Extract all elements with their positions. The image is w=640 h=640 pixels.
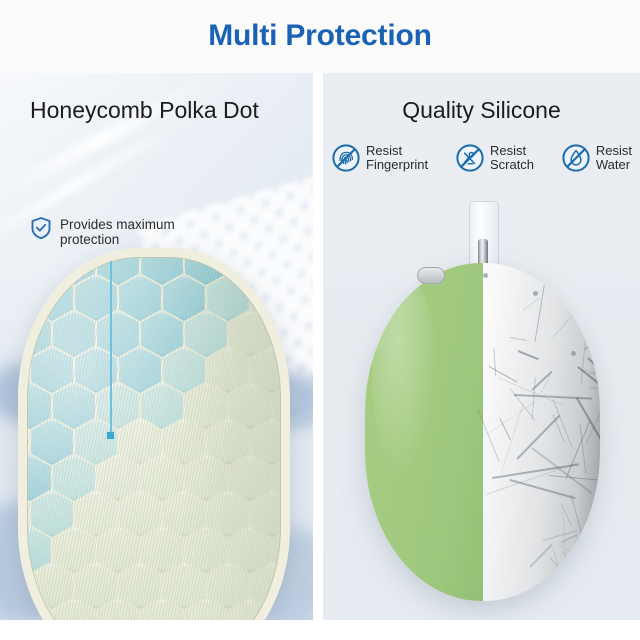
feature-resist-fingerprint: Resist Fingerprint: [331, 143, 428, 173]
callout-text: Provides maximum protection: [60, 216, 175, 247]
banner: Multi Protection: [0, 0, 640, 73]
callout-pointer-dot: [107, 432, 114, 439]
honeycomb-cell: [119, 419, 161, 465]
feature-resist-water: Resist Water: [561, 143, 632, 173]
honeycomb-cell: [31, 347, 73, 393]
honeycomb-cell: [229, 383, 271, 429]
earcup-gloss-highlight: [372, 277, 437, 480]
honeycomb-cell: [53, 527, 95, 573]
feature-label: Resist Scratch: [490, 144, 534, 173]
honeycomb-cell: [31, 275, 73, 321]
scratch-mark: [493, 349, 496, 377]
feature-resist-scratch: Resist Scratch: [455, 143, 534, 173]
callout-pointer-line: [110, 261, 112, 435]
scratch-mark: [534, 263, 549, 342]
earcup-stud: [571, 351, 576, 356]
scratch-mark: [501, 404, 524, 474]
earpad-inner-surface: [27, 257, 281, 620]
honeycomb-cell: [97, 311, 139, 357]
honeycomb-cell: [185, 527, 227, 573]
callout-provides-maximum-protection: Provides maximum protection: [30, 216, 175, 247]
scratch-mark: [565, 421, 590, 479]
feature-label: Resist Water: [596, 144, 632, 173]
honeycomb-cell: [53, 311, 95, 357]
honeycomb-cell: [141, 455, 183, 501]
shield-check-icon: [30, 216, 52, 240]
scratch-mark: [518, 350, 539, 360]
scratch-mark: [589, 387, 600, 392]
earcup-stud: [533, 291, 538, 296]
honeycomb-cell: [53, 455, 95, 501]
earcup-half-bare-scratched: [483, 263, 601, 601]
panel-honeycomb-polka-dot: Honeycomb Polka Dot Provides maximum pro…: [0, 73, 313, 620]
honeycomb-cell: [163, 275, 205, 321]
honeycomb-cell: [53, 383, 95, 429]
honeycomb-cell: [119, 563, 161, 609]
honeycomb-cell: [229, 455, 271, 501]
honeycomb-cell: [163, 491, 205, 537]
honeycomb-cell: [163, 347, 205, 393]
honeycomb-earpad-product-image: [18, 248, 290, 620]
earcup-half-with-silicone-case: [365, 263, 483, 601]
honeycomb-hex-grid: [27, 257, 281, 620]
honeycomb-cell: [229, 311, 271, 357]
page-title: Multi Protection: [0, 18, 640, 54]
honeycomb-cell: [119, 275, 161, 321]
honeycomb-cell: [75, 491, 117, 537]
honeycomb-cell: [31, 419, 73, 465]
scratch-mark: [486, 462, 577, 494]
honeycomb-cell: [229, 527, 271, 573]
honeycomb-cell: [97, 527, 139, 573]
honeycomb-cell: [141, 383, 183, 429]
left-panel-title: Honeycomb Polka Dot: [0, 95, 259, 125]
honeycomb-cell: [31, 491, 73, 537]
scratch-mark: [552, 414, 564, 441]
honeycomb-cell: [207, 563, 249, 609]
feature-label: Resist Fingerprint: [366, 144, 428, 173]
honeycomb-cell: [185, 383, 227, 429]
scratch-mark: [509, 337, 526, 341]
honeycomb-cell: [31, 563, 73, 609]
no-fingerprint-icon: [331, 143, 361, 173]
honeycomb-cell: [207, 275, 249, 321]
honeycomb-cell: [207, 419, 249, 465]
honeycomb-cell: [207, 491, 249, 537]
honeycomb-cell: [163, 563, 205, 609]
honeycomb-cell: [141, 527, 183, 573]
no-water-icon: [561, 143, 591, 173]
honeycomb-cell: [75, 563, 117, 609]
honeycomb-cell: [119, 491, 161, 537]
honeycomb-cell: [185, 311, 227, 357]
honeycomb-cell: [97, 455, 139, 501]
earcup-stud: [483, 273, 488, 278]
scratch-mark: [523, 297, 540, 310]
headphone-comparison-product-image: [365, 201, 600, 601]
feature-badge-list: Resist Fingerprint Resist Scratch: [331, 143, 632, 173]
scratch-mark: [530, 544, 553, 567]
scratch-mark: [553, 285, 599, 337]
panel-quality-silicone: Quality Silicone Resist Fingerprint: [323, 73, 640, 620]
right-panel-title: Quality Silicone: [323, 95, 640, 125]
earcup-hinge-knob: [417, 267, 445, 284]
honeycomb-cell: [141, 311, 183, 357]
no-scratch-icon: [455, 143, 485, 173]
honeycomb-cell: [185, 455, 227, 501]
honeycomb-cell: [163, 419, 205, 465]
honeycomb-cell: [97, 383, 139, 429]
scratch-mark: [543, 530, 577, 541]
earcup: [365, 263, 600, 601]
scratch-mark: [485, 393, 548, 436]
honeycomb-cell: [119, 347, 161, 393]
honeycomb-cell: [207, 347, 249, 393]
